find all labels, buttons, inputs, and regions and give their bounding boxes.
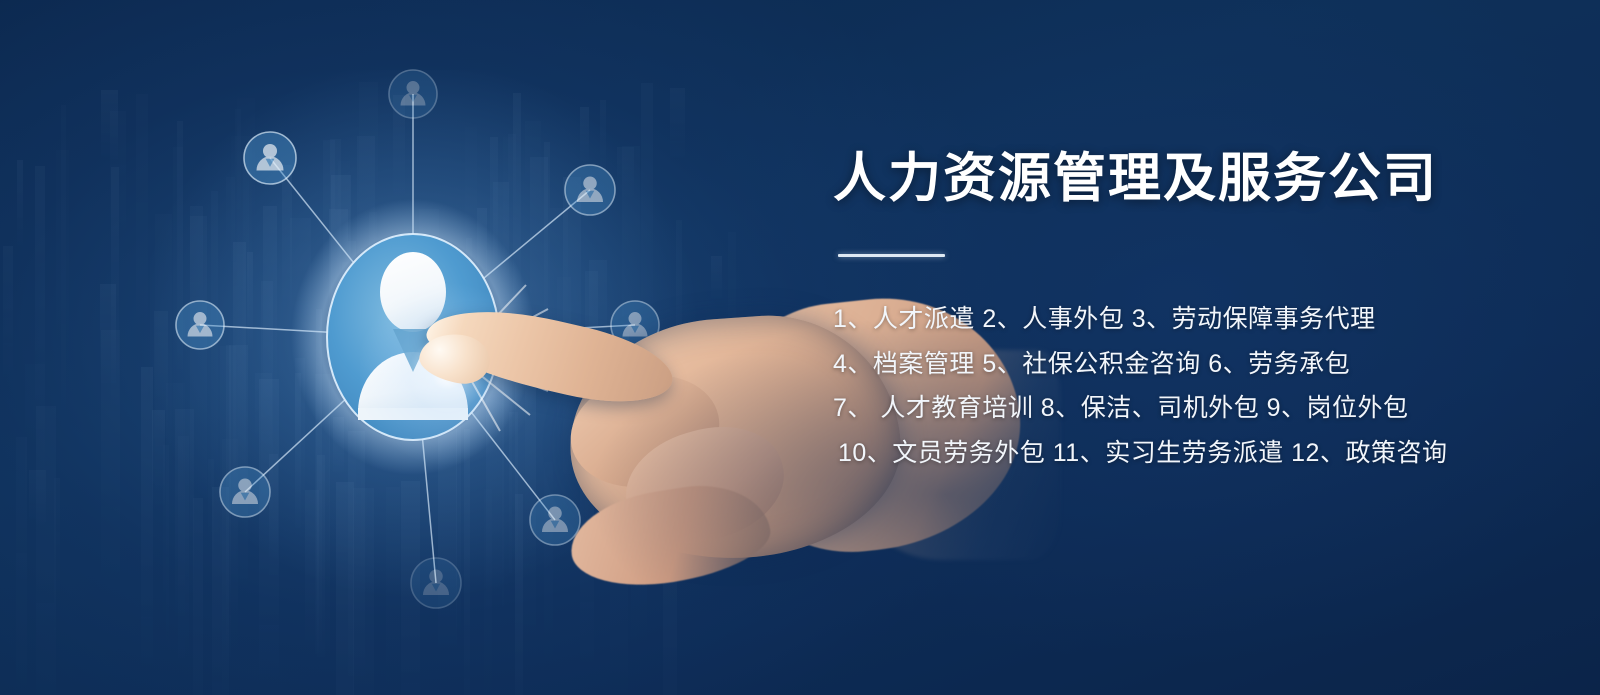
satellite-node-upper-left[interactable] [244, 132, 296, 184]
hand-thumb [564, 475, 776, 597]
index-finger [420, 293, 679, 417]
satellite-user-icon [194, 312, 207, 325]
satellite-node-lower-left[interactable] [220, 467, 270, 517]
satellite-node-top[interactable] [389, 70, 437, 118]
service-line-4: 10、文员劳务外包 11、实习生劳务派遣 12、政策咨询 [833, 431, 1553, 476]
satellite-node-left[interactable] [176, 301, 224, 349]
hr-services-banner: 人力资源管理及服务公司 1、人才派遣 2、人事外包 3、劳动保障事务代理4、档案… [0, 0, 1600, 695]
service-line-1: 1、人才派遣 2、人事外包 3、劳动保障事务代理 [833, 297, 1553, 342]
page-title: 人力资源管理及服务公司 [833, 150, 1553, 208]
satellite-node-upper-right[interactable] [565, 165, 615, 215]
satellite-user-icon [238, 479, 252, 493]
satellite-user-icon [263, 144, 277, 158]
satellite-user-icon [583, 177, 597, 191]
content-block: 人力资源管理及服务公司 1、人才派遣 2、人事外包 3、劳动保障事务代理4、档案… [833, 150, 1553, 475]
service-line-3: 7、 人才教育培训 8、保洁、司机外包 9、岗位外包 [833, 386, 1553, 431]
title-divider [838, 254, 945, 257]
finger-tip [416, 327, 494, 389]
hand-knuckle-2 [613, 410, 797, 560]
satellite-user-icon [407, 81, 420, 94]
service-list: 1、人才派遣 2、人事外包 3、劳动保障事务代理4、档案管理 5、社保公积金咨询… [833, 297, 1553, 475]
service-line-2: 4、档案管理 5、社保公积金咨询 6、劳务承包 [833, 342, 1553, 387]
hand-knuckle-1 [560, 362, 730, 501]
